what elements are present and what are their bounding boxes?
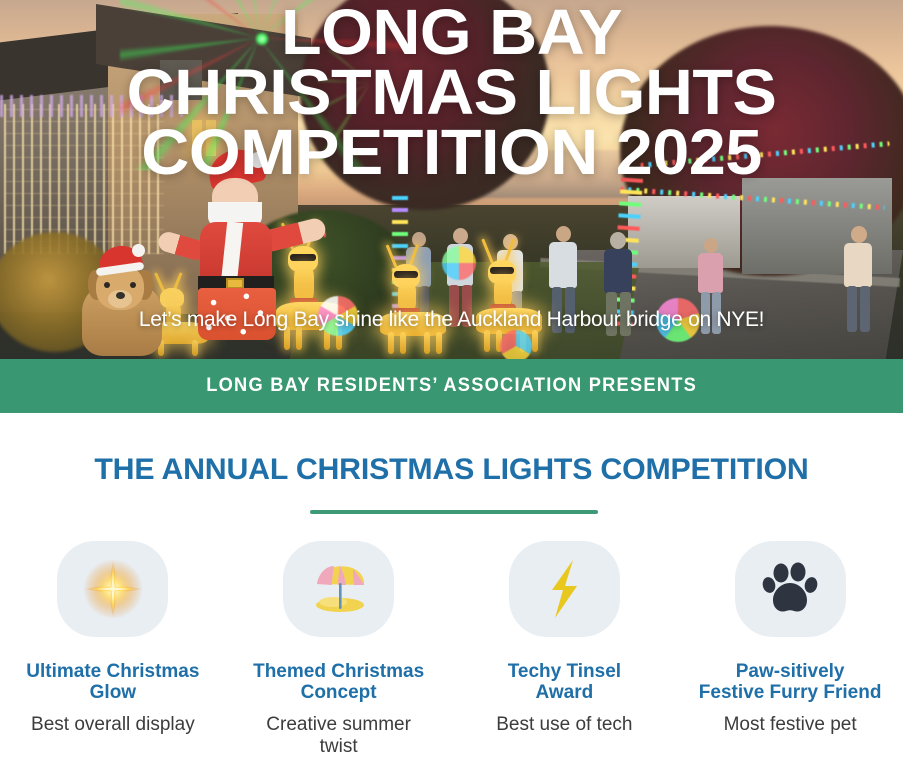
beach-umbrella-icon: [307, 557, 371, 621]
hero-title-line-1: LONG BAY: [0, 2, 903, 62]
lightning-bolt-icon: [532, 557, 596, 621]
icon-tile: [283, 541, 394, 637]
beach-ball: [500, 330, 532, 359]
category-card-list: Ultimate Christmas Glow Best overall dis…: [0, 541, 903, 759]
category-card-paw-sitively-festive-furry-friend[interactable]: Paw-sitively Festive Furry Friend Most f…: [680, 541, 900, 736]
category-title: Techy Tinsel Award: [508, 661, 621, 704]
category-title: Paw-sitively Festive Furry Friend: [699, 661, 882, 704]
category-description: Most festive pet: [724, 714, 857, 737]
category-title: Ultimate Christmas Glow: [26, 661, 199, 704]
icon-tile: [509, 541, 620, 637]
category-title: Themed Christmas Concept: [253, 661, 424, 704]
category-description: Best use of tech: [496, 714, 632, 737]
poster-page: LONG BAY CHRISTMAS LIGHTS COMPETITION 20…: [0, 0, 903, 780]
glowing-star-icon: [81, 557, 145, 621]
hero-subtitle: Let’s make Long Bay shine like the Auckl…: [0, 308, 903, 332]
presenter-banner-text: LONG BAY RESIDENTS’ ASSOCIATION PRESENTS: [206, 375, 697, 397]
hero-banner: LONG BAY CHRISTMAS LIGHTS COMPETITION 20…: [0, 0, 903, 359]
hero-title: LONG BAY CHRISTMAS LIGHTS COMPETITION 20…: [0, 2, 903, 182]
category-card-ultimate-christmas-glow[interactable]: Ultimate Christmas Glow Best overall dis…: [3, 541, 223, 736]
section-divider: [310, 510, 598, 514]
beach-ball: [442, 246, 476, 280]
presenter-banner: LONG BAY RESIDENTS’ ASSOCIATION PRESENTS: [0, 359, 903, 413]
competition-section: THE ANNUAL CHRISTMAS LIGHTS COMPETITION: [0, 413, 903, 780]
section-heading: THE ANNUAL CHRISTMAS LIGHTS COMPETITION: [0, 453, 903, 487]
hero-title-line-3: COMPETITION 2025: [0, 122, 903, 182]
paw-print-icon: [758, 557, 822, 621]
category-description: Creative summer twist: [266, 714, 411, 760]
category-description: Best overall display: [31, 714, 195, 737]
golden-retriever-with-santa-hat: [76, 246, 172, 356]
category-card-techy-tinsel-award[interactable]: Techy Tinsel Award Best use of tech: [454, 541, 674, 736]
hero-title-line-2: CHRISTMAS LIGHTS: [0, 62, 903, 122]
icon-tile: [57, 541, 168, 637]
icon-tile: [735, 541, 846, 637]
category-card-themed-christmas-concept[interactable]: Themed Christmas Concept Creative summer…: [229, 541, 449, 759]
